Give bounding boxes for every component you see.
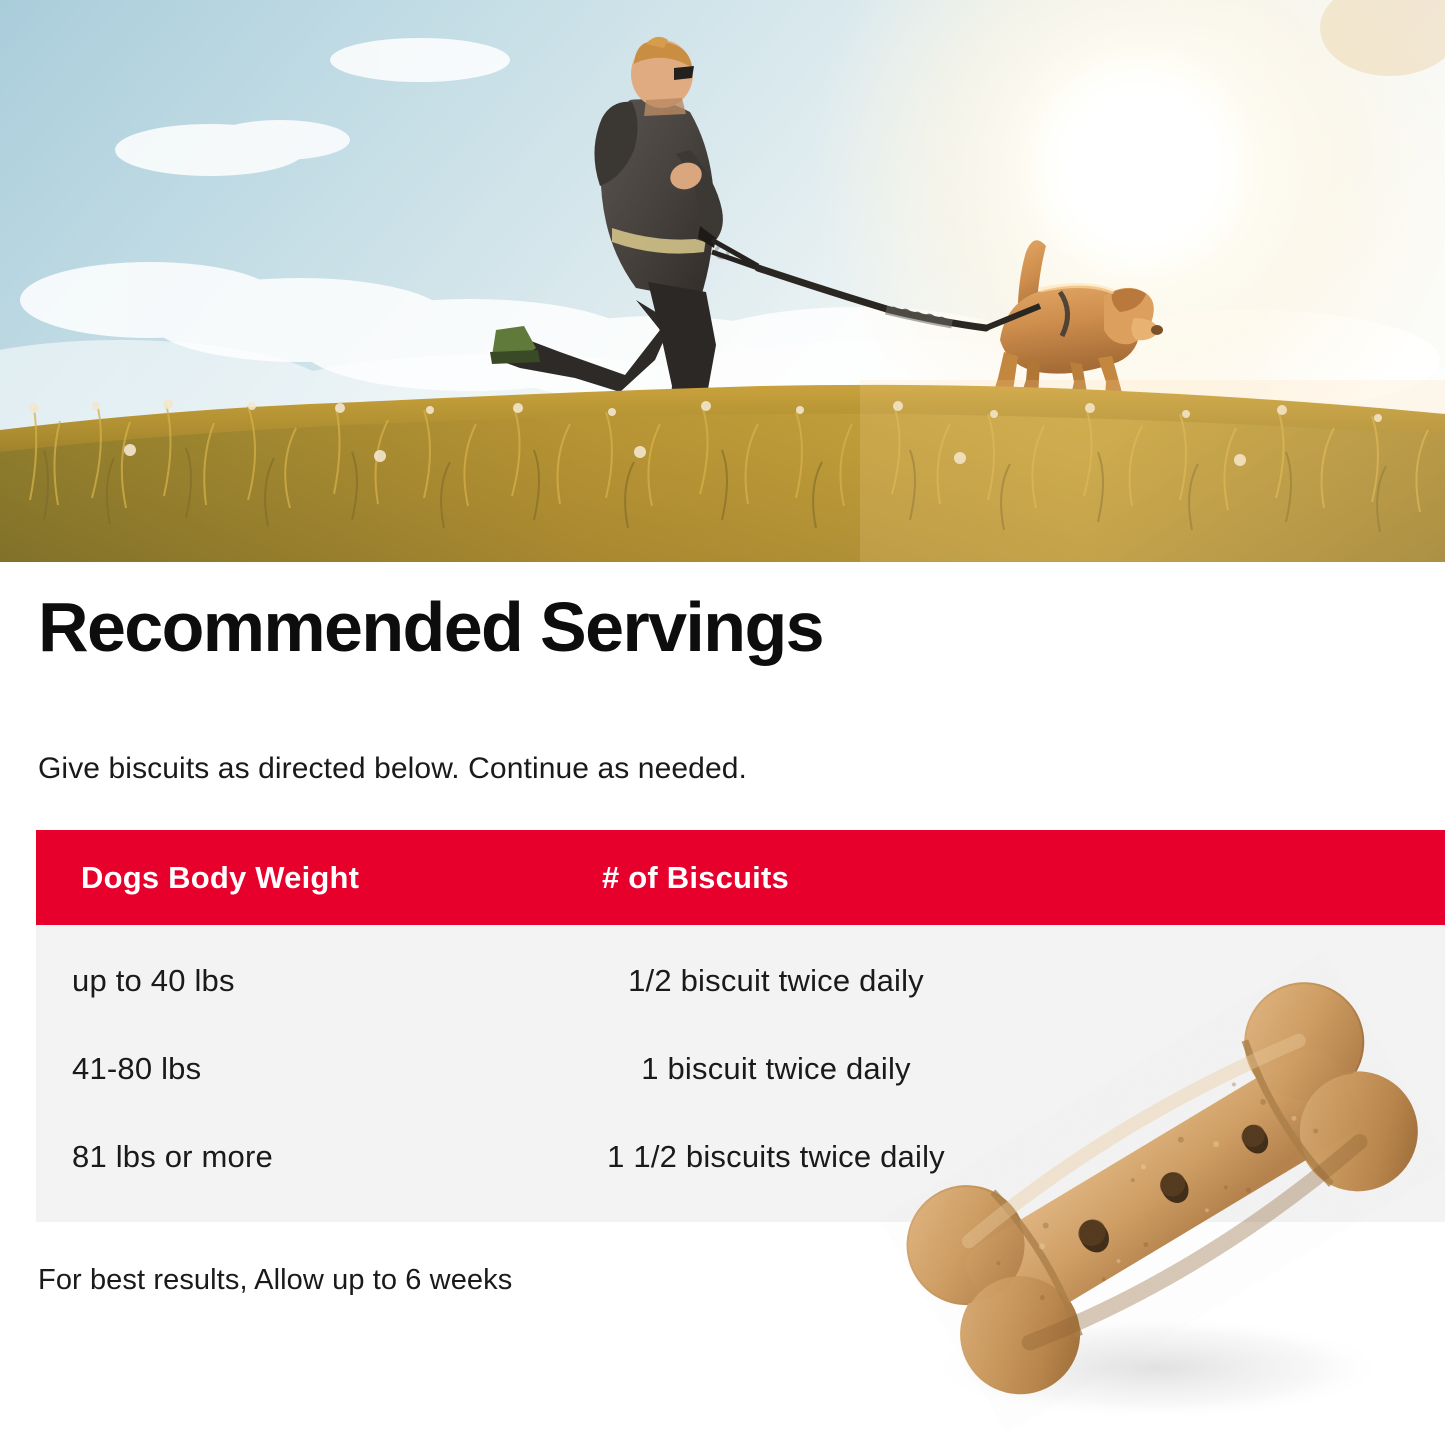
cell-weight: 41-80 lbs — [72, 1051, 201, 1087]
cell-biscuits: 1 biscuit twice daily — [476, 1051, 1076, 1087]
footer-note: For best results, Allow up to 6 weeks — [38, 1264, 512, 1297]
hero-image — [0, 0, 1445, 562]
serving-table: Dogs Body Weight # of Biscuits up to 40 … — [36, 830, 1445, 1222]
cell-weight: 81 lbs or more — [72, 1139, 273, 1175]
cell-weight: up to 40 lbs — [72, 963, 235, 999]
recommended-servings-page: Recommended Servings Give biscuits as di… — [0, 0, 1445, 1445]
intro-text: Give biscuits as directed below. Continu… — [38, 752, 747, 786]
cell-biscuits: 1/2 biscuit twice daily — [476, 963, 1076, 999]
table-header-row: Dogs Body Weight # of Biscuits — [36, 830, 1445, 925]
table-row: 41-80 lbs 1 biscuit twice daily — [36, 1029, 1445, 1117]
table-row: 81 lbs or more 1 1/2 biscuits twice dail… — [36, 1117, 1445, 1205]
column-header-dogs-body-weight: Dogs Body Weight — [81, 860, 359, 896]
column-header-number-of-biscuits: # of Biscuits — [602, 860, 789, 896]
table-body: up to 40 lbs 1/2 biscuit twice daily 41-… — [36, 925, 1445, 1222]
table-row: up to 40 lbs 1/2 biscuit twice daily — [36, 941, 1445, 1029]
hero-illustration — [0, 0, 1445, 562]
cell-biscuits: 1 1/2 biscuits twice daily — [476, 1139, 1076, 1175]
page-title: Recommended Servings — [38, 592, 823, 662]
